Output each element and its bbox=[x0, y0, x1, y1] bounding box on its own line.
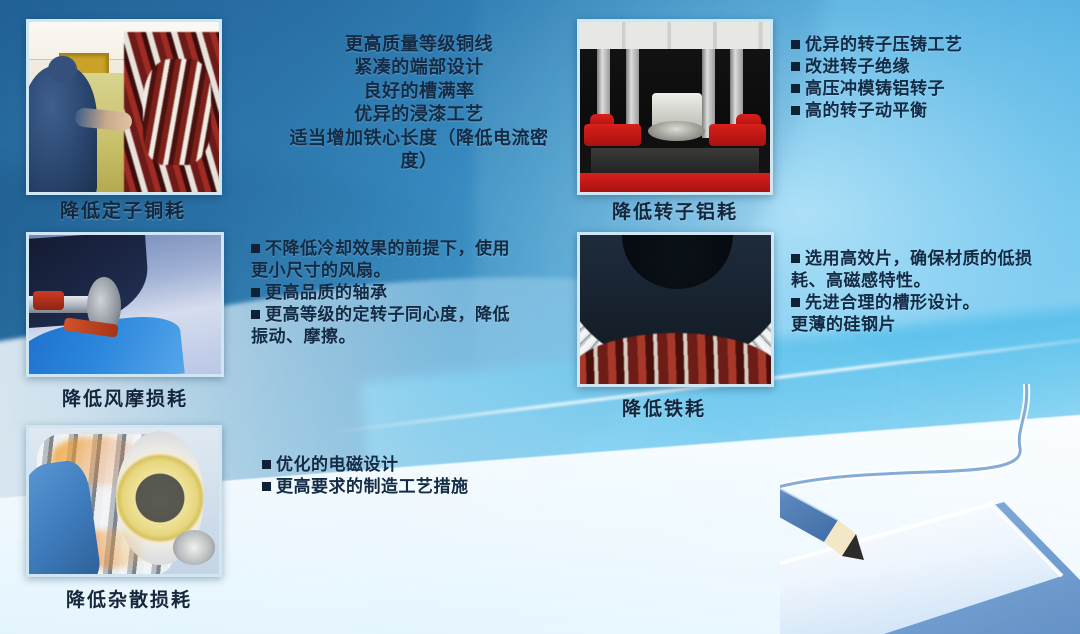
text-line: 优异的浸漆工艺 bbox=[276, 103, 562, 126]
text-iron-loss: 选用高效片，确保材质的低损 耗、高磁感特性。 先进合理的槽形设计。 更薄的硅钢片 bbox=[791, 248, 1073, 336]
stator-lamination-photo bbox=[577, 232, 774, 387]
text-line: 更薄的硅钢片 bbox=[791, 314, 1073, 336]
caption-stray-loss: 降低杂散损耗 bbox=[66, 585, 192, 612]
bullet-item: 选用高效片，确保材质的低损 bbox=[791, 248, 1073, 270]
square-bullet-icon bbox=[251, 244, 260, 253]
square-bullet-icon bbox=[791, 62, 800, 71]
text-line: 度） bbox=[276, 150, 562, 173]
bullet-text: 更高等级的定转子同心度，降低 bbox=[265, 305, 510, 324]
bullet-text: 优异的转子压铸工艺 bbox=[805, 35, 963, 54]
die-casting-press-photo bbox=[577, 19, 773, 195]
bullet-item: 不降低冷却效果的前提下，使用 bbox=[251, 238, 551, 260]
bullet-item: 更高要求的制造工艺措施 bbox=[262, 476, 562, 498]
bullet-text: 更高要求的制造工艺措施 bbox=[276, 477, 469, 496]
caption-windage-friction-loss: 降低风摩损耗 bbox=[62, 384, 188, 411]
bullet-text: 选用高效片，确保材质的低损 bbox=[805, 249, 1033, 268]
text-line: 更高质量等级铜线 bbox=[276, 33, 562, 56]
bullet-text: 高压冲模铸铝转子 bbox=[805, 79, 945, 98]
text-line: 良好的槽满率 bbox=[276, 80, 562, 103]
text-stator-copper-loss: 更高质量等级铜线 紧凑的端部设计 良好的槽满率 优异的浸漆工艺 适当增加铁心长度… bbox=[276, 33, 562, 173]
bullet-text: 改进转子绝缘 bbox=[805, 57, 910, 76]
bullet-item: 更高品质的轴承 bbox=[251, 282, 551, 304]
bullet-item: 先进合理的槽形设计。 bbox=[791, 292, 1073, 314]
bullet-item: 高的转子动平衡 bbox=[791, 100, 1069, 122]
text-line: 振动、摩擦。 bbox=[251, 326, 551, 348]
bullet-text: 更高品质的轴承 bbox=[265, 283, 388, 302]
square-bullet-icon bbox=[262, 482, 271, 491]
bullet-text: 先进合理的槽形设计。 bbox=[805, 293, 980, 312]
graphics-tablet-illustration bbox=[780, 384, 1080, 634]
bullet-item: 改进转子绝缘 bbox=[791, 56, 1069, 78]
text-line: 更小尺寸的风扇。 bbox=[251, 260, 551, 282]
caption-stator-copper-loss: 降低定子铜耗 bbox=[60, 196, 186, 223]
square-bullet-icon bbox=[791, 254, 800, 263]
text-line: 紧凑的端部设计 bbox=[276, 56, 562, 79]
square-bullet-icon bbox=[262, 460, 271, 469]
square-bullet-icon bbox=[791, 106, 800, 115]
slide-canvas: 降低定子铜耗 更高质量等级铜线 紧凑的端部设计 良好的槽满率 优异的浸漆工艺 适… bbox=[0, 0, 1080, 634]
text-rotor-aluminum-loss: 优异的转子压铸工艺 改进转子绝缘 高压冲模铸铝转子 高的转子动平衡 bbox=[791, 34, 1069, 122]
bullet-item: 高压冲模铸铝转子 bbox=[791, 78, 1069, 100]
bullet-item: 优异的转子压铸工艺 bbox=[791, 34, 1069, 56]
square-bullet-icon bbox=[251, 310, 260, 319]
rotor-fan-shaft-photo bbox=[26, 232, 224, 377]
caption-rotor-aluminum-loss: 降低转子铝耗 bbox=[612, 197, 738, 224]
armature-grinding-photo bbox=[26, 425, 222, 577]
bullet-item: 优化的电磁设计 bbox=[262, 454, 562, 476]
stator-winding-photo bbox=[26, 19, 222, 195]
square-bullet-icon bbox=[251, 288, 260, 297]
caption-iron-loss: 降低铁耗 bbox=[622, 394, 706, 421]
text-line: 耗、高磁感特性。 bbox=[791, 270, 1073, 292]
bullet-item: 更高等级的定转子同心度，降低 bbox=[251, 304, 551, 326]
bullet-text: 优化的电磁设计 bbox=[276, 455, 399, 474]
text-line: 适当增加铁心长度（降低电流密 bbox=[276, 127, 562, 150]
square-bullet-icon bbox=[791, 40, 800, 49]
bullet-text: 高的转子动平衡 bbox=[805, 101, 928, 120]
text-windage-friction-loss: 不降低冷却效果的前提下，使用 更小尺寸的风扇。 更高品质的轴承 更高等级的定转子… bbox=[251, 238, 551, 348]
bullet-text: 不降低冷却效果的前提下，使用 bbox=[265, 239, 510, 258]
square-bullet-icon bbox=[791, 298, 800, 307]
square-bullet-icon bbox=[791, 84, 800, 93]
text-stray-loss: 优化的电磁设计 更高要求的制造工艺措施 bbox=[262, 454, 562, 498]
